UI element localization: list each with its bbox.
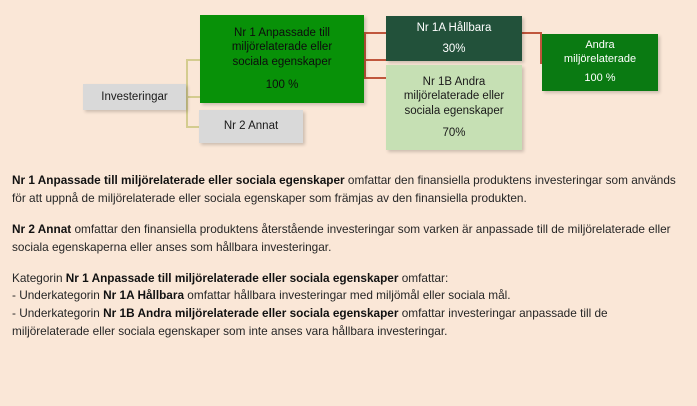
node-nr2-label: Nr 2 Annat: [224, 119, 278, 133]
explanatory-text: Nr 1 Anpassade till miljörelaterade elle…: [12, 172, 688, 340]
category-line2-pre: - Underkategorin: [12, 288, 103, 302]
investment-category-diagram: Investeringar Nr 1 Anpassade till miljör…: [0, 0, 697, 160]
paragraph-nr2: Nr 2 Annat omfattar den finansiella prod…: [12, 221, 688, 257]
node-nr1a-line1: Nr 1A Hållbara: [417, 21, 492, 35]
paragraph-nr1-term: Nr 1 Anpassade till miljörelaterade elle…: [12, 173, 345, 187]
node-andra-line2: miljörelaterade: [564, 53, 636, 66]
category-line3-term: Nr 1B Andra miljörelaterade eller social…: [103, 306, 398, 320]
node-nr1b-line1: Nr 1B Andra: [423, 75, 486, 89]
paragraph-nr1: Nr 1 Anpassade till miljörelaterade elle…: [12, 172, 688, 208]
connector-investeringar-trunk: [186, 96, 200, 98]
node-nr1-anpassade: Nr 1 Anpassade till miljörelaterade elle…: [200, 15, 364, 103]
node-nr1b-andra: Nr 1B Andra miljörelaterade eller social…: [386, 65, 522, 150]
node-nr1-line1: Nr 1 Anpassade till: [234, 26, 330, 40]
node-nr1a-percent: 30%: [442, 42, 465, 56]
node-andra-line1: Andra: [585, 39, 614, 52]
paragraph-nr2-term: Nr 2 Annat: [12, 222, 71, 236]
category-line1-term: Nr 1 Anpassade till miljörelaterade elle…: [66, 271, 399, 285]
node-nr1b-line3: sociala egenskaper: [404, 104, 503, 118]
category-line2-term: Nr 1A Hållbara: [103, 288, 184, 302]
connector-investeringar-to-nr1: [186, 59, 201, 61]
node-nr1b-line2: miljörelaterade eller: [404, 89, 504, 103]
connector-nr1a-out: [522, 32, 542, 34]
category-line3-pre: - Underkategorin: [12, 306, 103, 320]
node-investeringar: Investeringar: [83, 84, 186, 110]
connector-nr1-to-nr1b: [364, 77, 387, 79]
node-nr1-percent: 100 %: [266, 78, 299, 92]
connector-nr1-to-nr1a: [364, 32, 387, 34]
category-line2-post: omfattar hållbara investeringar med milj…: [184, 288, 511, 302]
connector-nr1-trunk: [364, 59, 386, 61]
connector-nr1-vertical: [364, 32, 366, 78]
node-nr1-line3: sociala egenskaper: [232, 55, 331, 69]
category-line1-pre: Kategorin: [12, 271, 66, 285]
node-andra-miljorelaterade: Andra miljörelaterade 100 %: [542, 34, 658, 91]
connector-investeringar-to-nr2: [186, 126, 200, 128]
node-nr1b-percent: 70%: [442, 126, 465, 140]
paragraph-nr2-body: omfattar den finansiella produktens åter…: [12, 222, 671, 254]
node-nr1-line2: miljörelaterade eller: [232, 40, 332, 54]
connector-investeringar-vertical: [186, 59, 188, 127]
node-nr1a-hallbara: Nr 1A Hållbara 30%: [386, 16, 522, 61]
node-andra-percent: 100 %: [584, 72, 615, 85]
category-line1-post: omfattar:: [398, 271, 448, 285]
node-nr2-annat: Nr 2 Annat: [199, 110, 303, 143]
node-investeringar-label: Investeringar: [101, 90, 167, 104]
paragraph-categories: Kategorin Nr 1 Anpassade till miljörelat…: [12, 270, 688, 341]
